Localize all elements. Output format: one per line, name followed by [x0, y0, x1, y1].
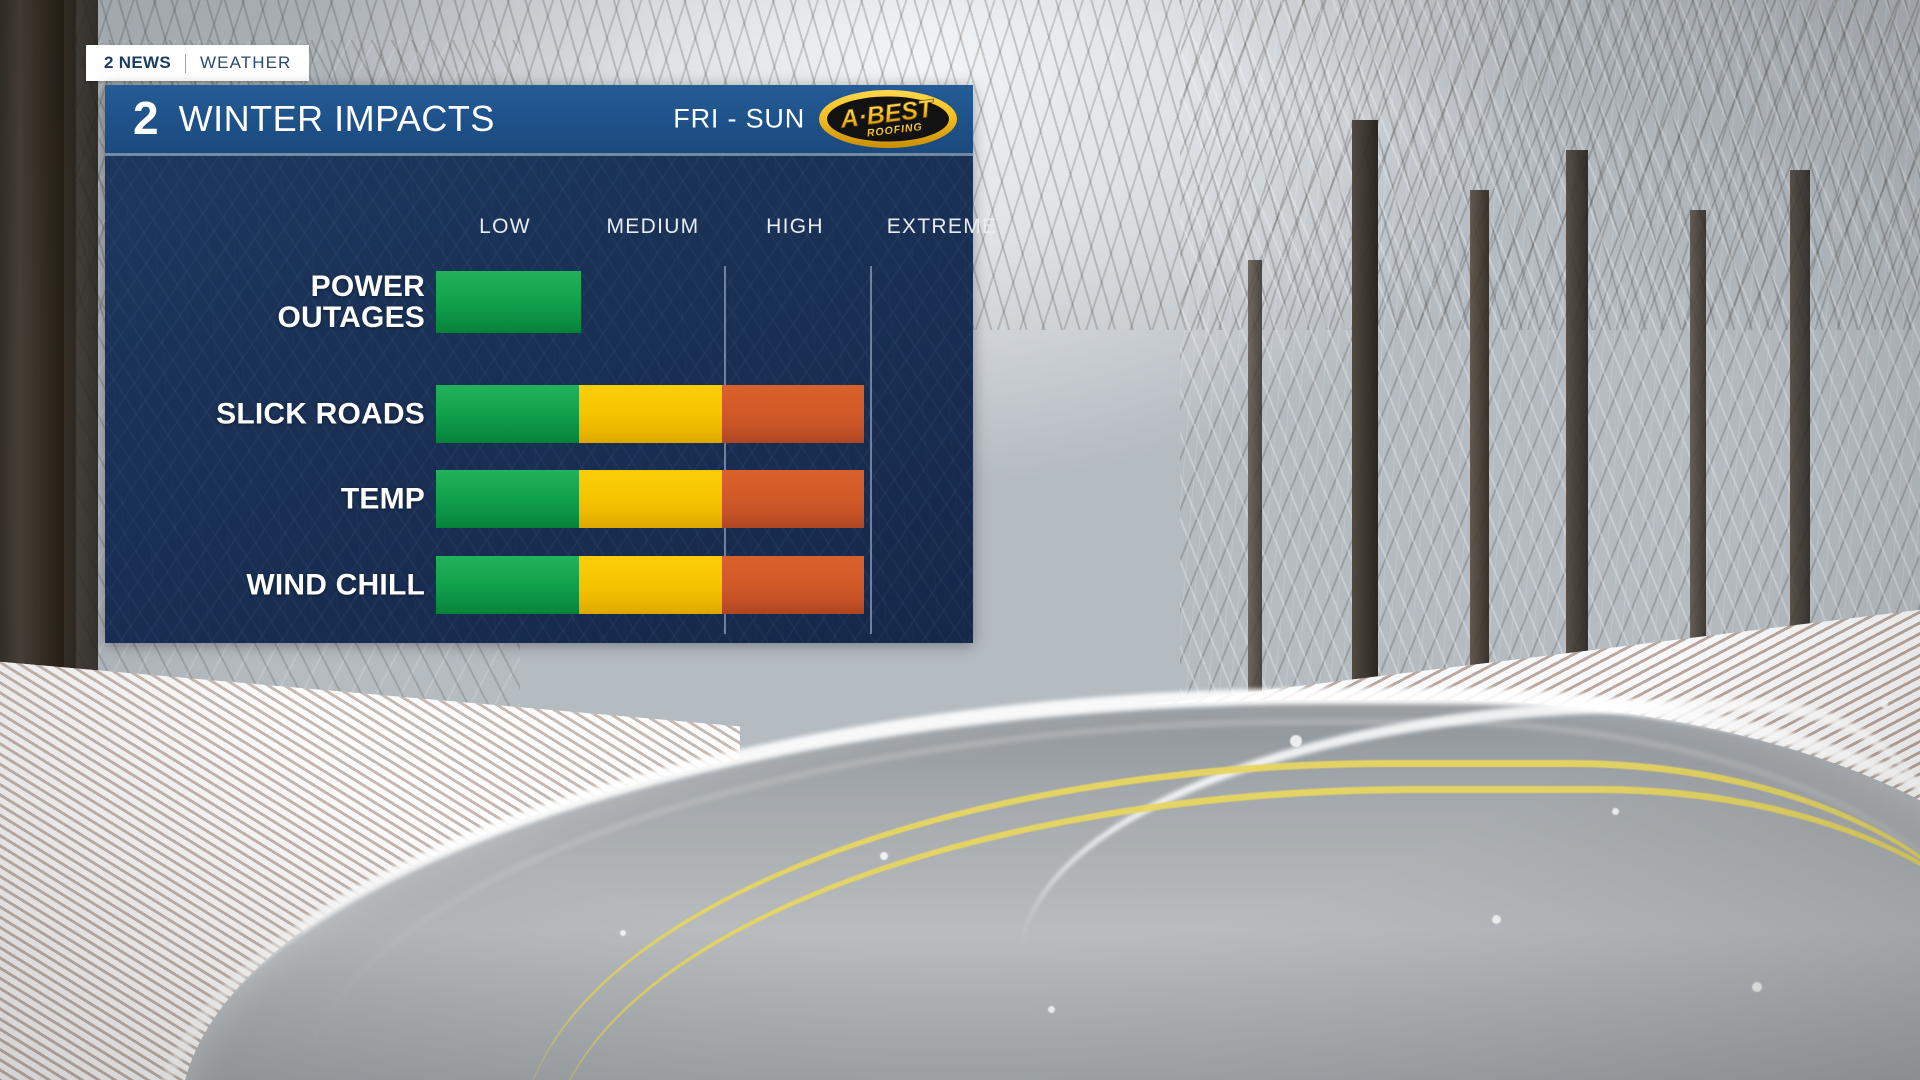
- column-header-high: HIGH: [766, 215, 824, 239]
- date-range-label: FRI - SUN: [673, 104, 805, 135]
- tab-divider: [185, 54, 186, 73]
- section-label: WEATHER: [200, 53, 291, 73]
- bar-segment-high: [722, 385, 864, 443]
- impact-bar-wind-chill: [436, 556, 864, 614]
- station-brand-label: 2 NEWS: [104, 53, 171, 73]
- column-header-extreme: EXTREME: [887, 215, 998, 239]
- winter-impacts-panel: 2 WINTER IMPACTS FRI - SUN: [105, 85, 973, 643]
- bar-segment-low: [436, 556, 579, 614]
- bar-segment-low: [436, 470, 579, 528]
- row-label-line-1: POWER: [125, 271, 425, 302]
- table-row: POWER OUTAGES: [105, 271, 973, 333]
- scale-column-headers: LOW MEDIUM HIGH EXTREME: [105, 215, 973, 239]
- bar-segment-high: [722, 470, 864, 528]
- row-label-power-outages: POWER OUTAGES: [125, 271, 435, 333]
- row-label-line-2: OUTAGES: [125, 302, 425, 333]
- a-best-roofing-logo: A·BEST ROOFING: [817, 88, 959, 150]
- broadcast-graphic-stage: 2 NEWS WEATHER 2 WINTER IMPACTS FRI - SU…: [0, 0, 1920, 1080]
- impact-bar-slick-roads: [436, 385, 864, 443]
- column-header-medium: MEDIUM: [607, 215, 700, 239]
- channel-number: 2: [133, 95, 159, 141]
- table-row: TEMP: [105, 470, 973, 528]
- station-branding-tab: 2 NEWS WEATHER: [86, 45, 309, 81]
- bar-segment-medium: [579, 470, 722, 528]
- column-header-low: LOW: [479, 215, 531, 239]
- page-title: WINTER IMPACTS: [179, 98, 495, 140]
- bar-segment-medium: [579, 556, 722, 614]
- impact-bar-temp: [436, 470, 864, 528]
- impacts-chart: LOW MEDIUM HIGH EXTREME POWER OUTAGES: [105, 153, 973, 643]
- panel-header-bar: 2 WINTER IMPACTS FRI - SUN: [105, 85, 973, 153]
- bar-segment-medium: [579, 385, 722, 443]
- table-row: SLICK ROADS: [105, 385, 973, 443]
- impact-bar-power-outages: [436, 271, 581, 333]
- bar-segment-high: [722, 556, 864, 614]
- row-label-wind-chill: WIND CHILL: [125, 569, 435, 600]
- row-label-slick-roads: SLICK ROADS: [125, 398, 435, 429]
- row-label-temp: TEMP: [125, 483, 435, 514]
- bar-segment-low: [436, 271, 581, 333]
- table-row: WIND CHILL: [105, 556, 973, 614]
- bar-segment-low: [436, 385, 579, 443]
